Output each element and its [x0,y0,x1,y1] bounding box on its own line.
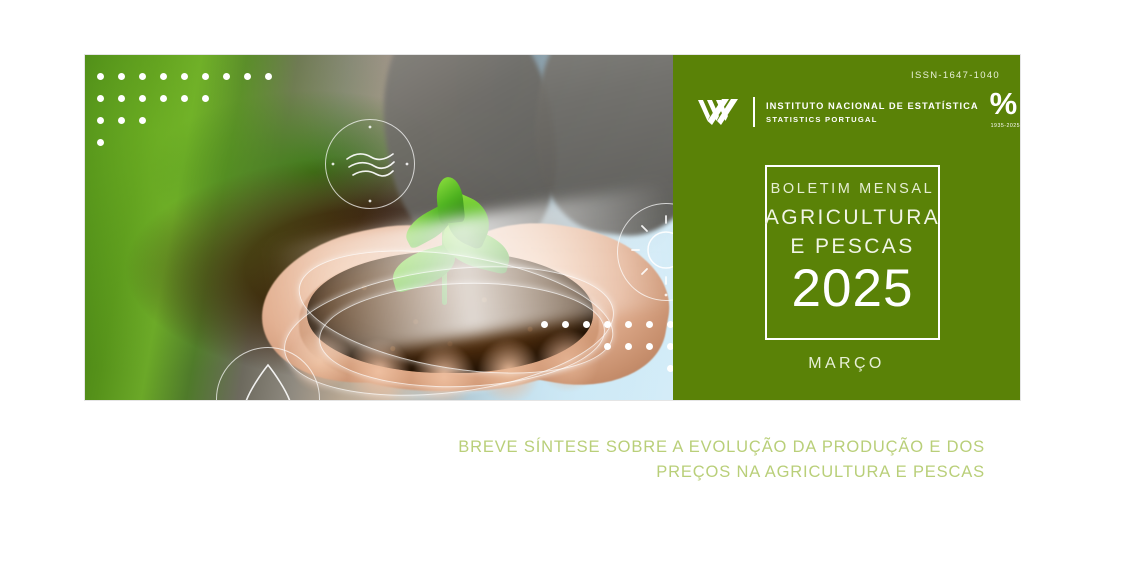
green-panel: ISSN-1647-1040 INSTITUTO NACIONAL DE EST… [673,55,1020,400]
title-year: 2025 [792,261,914,317]
logo-text: INSTITUTO NACIONAL DE ESTATÍSTICA STATIS… [766,101,979,124]
dot-matrix-bottom-right [541,321,673,400]
dot-matrix-top-left [97,73,277,163]
water-drop-icon [216,347,320,400]
sun-icon [617,203,673,301]
wind-icon-circle [325,119,415,209]
issn-label: ISSN-1647-1040 [911,70,1000,81]
title-line-2: E PESCAS [790,235,914,259]
percent-years: 1935-2025 [991,123,1020,129]
logo-line-1: INSTITUTO NACIONAL DE ESTATÍSTICA [766,101,979,111]
page-root: ISSN-1647-1040 INSTITUTO NACIONAL DE EST… [0,0,1140,570]
percent-glyph: % [990,88,1017,119]
logo-divider [753,97,755,127]
cover-banner: ISSN-1647-1040 INSTITUTO NACIONAL DE EST… [85,55,1020,400]
subtitle-line-1: BREVE SÍNTESE SOBRE A EVOLUÇÃO DA PRODUÇ… [85,435,985,460]
logo-line-2: STATISTICS PORTUGAL [766,115,979,124]
subtitle-line-2: PREÇOS NA AGRICULTURA E PESCAS [85,460,985,485]
ine-chevron-logo-icon [698,96,742,128]
percent-mark: % 1935-2025 [990,90,1020,134]
ine-logo: INSTITUTO NACIONAL DE ESTATÍSTICA STATIS… [698,90,1002,134]
title-line-1: AGRICULTURA [765,206,940,230]
cover-subtitle: BREVE SÍNTESE SOBRE A EVOLUÇÃO DA PRODUÇ… [85,435,985,485]
month-label: MARÇO [673,355,1020,373]
title-kicker: BOLETIM MENSAL [771,181,935,197]
cover-photo [85,55,673,400]
title-box: BOLETIM MENSAL AGRICULTURA E PESCAS 2025 [765,165,940,340]
wind-icon [325,119,415,209]
